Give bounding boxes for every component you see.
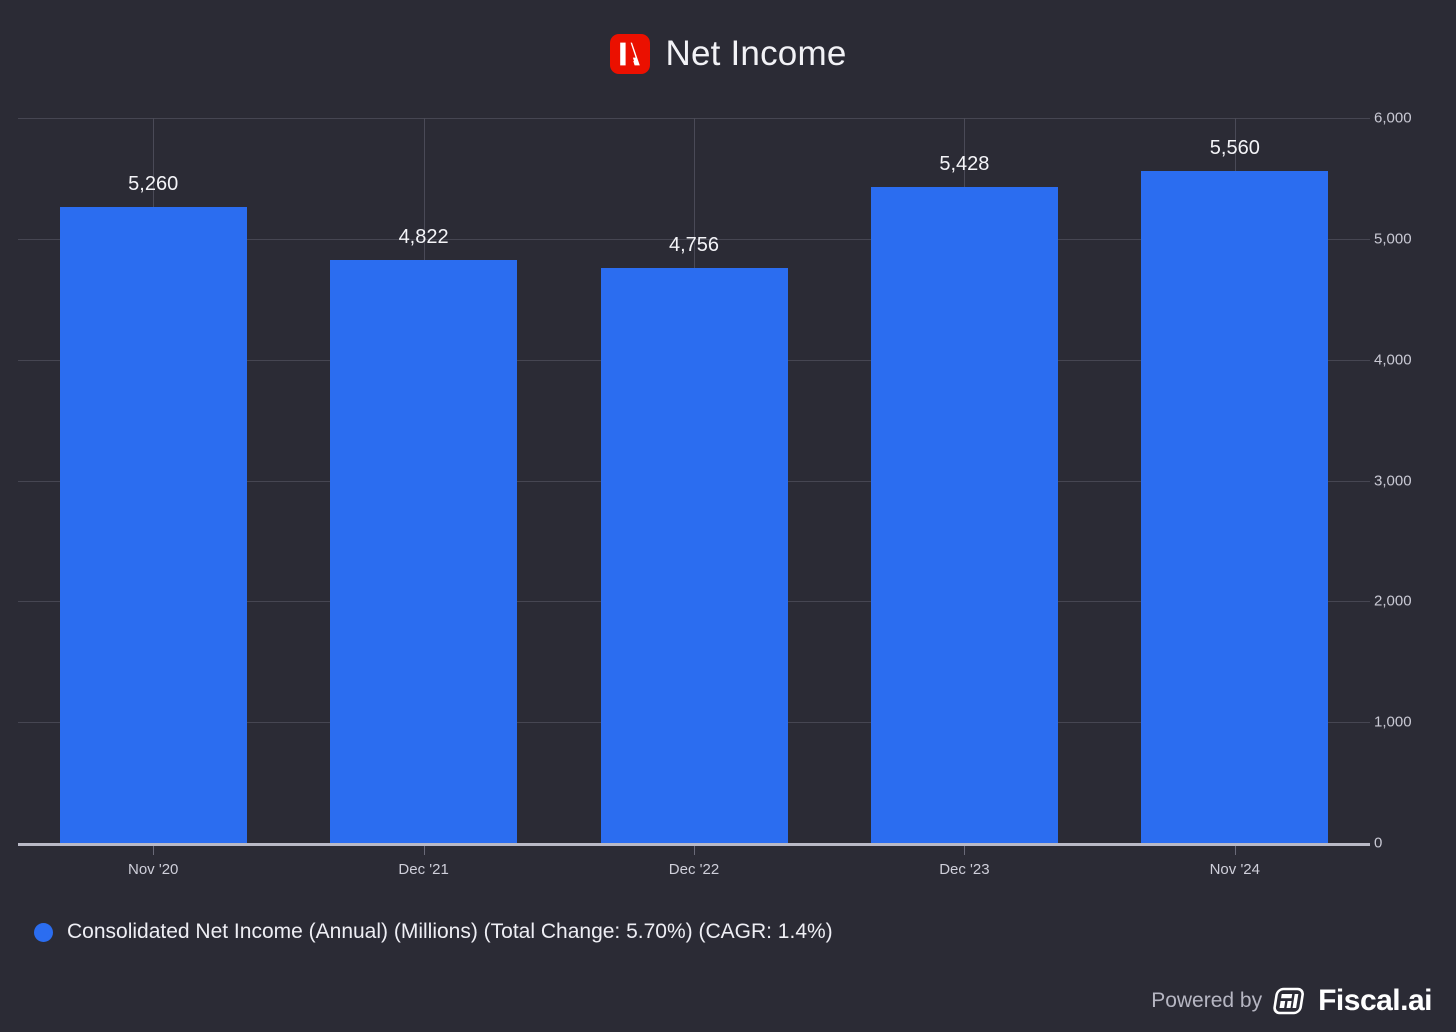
x-axis-tick xyxy=(424,846,425,855)
y-axis-tick-label: 4,000 xyxy=(1374,351,1412,368)
bar-value-label: 5,260 xyxy=(128,173,178,196)
y-axis-tick-label: 5,000 xyxy=(1374,230,1412,247)
bar-3[interactable] xyxy=(601,268,788,843)
bar-4[interactable] xyxy=(871,187,1058,843)
bar-value-label: 4,756 xyxy=(669,234,719,257)
bar-1[interactable] xyxy=(60,207,247,843)
x-axis-tick xyxy=(153,846,154,855)
chart-legend[interactable]: Consolidated Net Income (Annual) (Millio… xyxy=(34,920,833,944)
y-axis-tick-label: 0 xyxy=(1374,835,1382,852)
x-axis-tick-label: Dec '23 xyxy=(939,861,989,878)
x-axis-tick xyxy=(694,846,695,855)
bar-5[interactable] xyxy=(1141,171,1328,843)
bar-value-label: 4,822 xyxy=(399,226,449,249)
bar-value-label: 5,560 xyxy=(1210,137,1260,160)
x-axis-tick-label: Dec '21 xyxy=(398,861,448,878)
page-title: Net Income xyxy=(666,34,847,74)
adobe-logo-icon xyxy=(610,34,650,74)
powered-by-label: Powered by xyxy=(1151,989,1262,1013)
x-axis-tick xyxy=(1235,846,1236,855)
y-axis-tick-label: 1,000 xyxy=(1374,714,1412,731)
plot-area xyxy=(18,118,1370,843)
title-wrap: Net Income xyxy=(610,34,847,74)
chart-header: Net Income xyxy=(0,0,1456,108)
footer-branding: Powered by Fiscal.ai xyxy=(1151,984,1432,1018)
x-axis-tick-label: Nov '20 xyxy=(128,861,178,878)
y-axis-tick-label: 2,000 xyxy=(1374,593,1412,610)
y-axis-tick-label: 3,000 xyxy=(1374,472,1412,489)
legend-marker-icon xyxy=(34,923,53,942)
legend-item-label: Consolidated Net Income (Annual) (Millio… xyxy=(67,920,833,944)
x-axis-tick-label: Dec '22 xyxy=(669,861,719,878)
y-axis-tick-label: 6,000 xyxy=(1374,110,1412,127)
bar-value-label: 5,428 xyxy=(939,153,989,176)
fiscal-ai-logo-icon xyxy=(1273,986,1307,1016)
fiscal-ai-brand-name: Fiscal.ai xyxy=(1318,984,1432,1018)
bar-2[interactable] xyxy=(330,260,517,843)
x-axis-tick-label: Nov '24 xyxy=(1210,861,1260,878)
x-axis-tick xyxy=(964,846,965,855)
